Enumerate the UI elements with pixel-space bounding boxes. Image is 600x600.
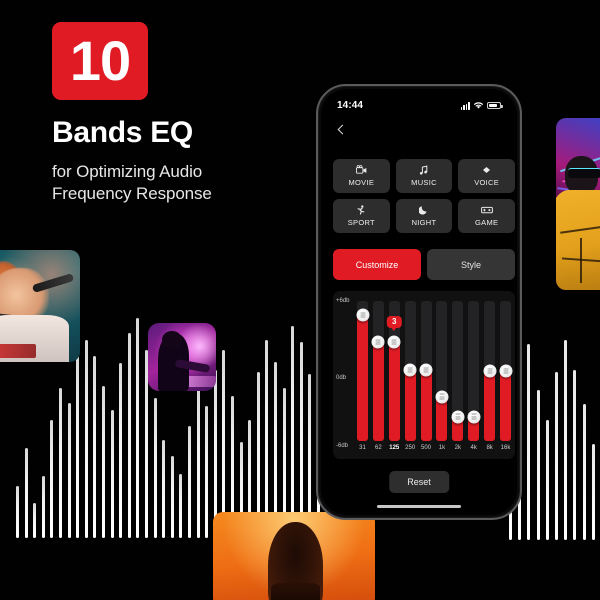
- poster-canvas: 10 Bands EQ for Optimizing Audio Frequen…: [0, 0, 600, 600]
- cellular-signal-icon: [461, 102, 470, 110]
- dj-photo: [148, 323, 216, 391]
- waveform-bar: [25, 448, 28, 538]
- equalizer-band-fill: [357, 315, 368, 441]
- waveform-bar: [33, 503, 36, 538]
- waveform-bar: [300, 342, 303, 538]
- equalizer-band-knob[interactable]: [420, 363, 433, 376]
- equalizer-band[interactable]: [484, 301, 495, 441]
- preset-voice[interactable]: VOICE: [458, 159, 515, 193]
- page-title: Bands EQ: [52, 117, 302, 149]
- waveform-bar: [102, 386, 105, 538]
- equalizer-band-fill: [500, 371, 511, 441]
- equalizer-band[interactable]: [500, 301, 511, 441]
- equalizer-frequency-label: 2k: [455, 445, 461, 451]
- gamepad-icon: [481, 205, 493, 216]
- status-time: 14:44: [337, 100, 363, 111]
- waveform-bar: [205, 406, 208, 538]
- preset-label: GAME: [475, 218, 498, 227]
- waveform-bar: [85, 340, 88, 538]
- preset-movie[interactable]: MOVIE: [333, 159, 390, 193]
- preset-night[interactable]: NIGHT: [396, 199, 453, 233]
- battery-icon: [487, 102, 501, 110]
- equalizer-band-knob[interactable]: [356, 309, 369, 322]
- equalizer-frequency-label: 250: [405, 445, 415, 451]
- equalizer-band[interactable]: [357, 301, 368, 441]
- equalizer-frequency-label: 500: [421, 445, 431, 451]
- equalizer-band-fill: [421, 370, 432, 441]
- reset-button[interactable]: Reset: [389, 471, 449, 493]
- waveform-bar: [222, 350, 225, 538]
- waveform-bar: [291, 326, 294, 538]
- equalizer-band-fill: [484, 371, 495, 441]
- waveform-bar: [188, 426, 191, 538]
- preset-grid: MOVIE MUSIC VOICE: [333, 159, 515, 233]
- preset-music[interactable]: MUSIC: [396, 159, 453, 193]
- waveform-bar: [50, 420, 53, 538]
- page-subtitle: for Optimizing Audio Frequency Response: [52, 161, 302, 207]
- equalizer-band[interactable]: [421, 301, 432, 441]
- portrait-photo: [213, 512, 375, 600]
- waveform-bar: [119, 363, 122, 538]
- y-axis-top-label: +6db: [336, 298, 350, 304]
- neon-portrait-photo: [556, 118, 600, 290]
- style-button[interactable]: Style: [427, 249, 515, 280]
- equalizer-frequency-label: 125: [389, 445, 399, 451]
- equalizer-frequency-label: 62: [375, 445, 382, 451]
- waveform-bar: [76, 350, 79, 538]
- equalizer-band-fill: [405, 370, 416, 441]
- preset-game[interactable]: GAME: [458, 199, 515, 233]
- waveform-bar: [59, 388, 62, 538]
- phone-notch: [389, 93, 449, 109]
- waveform-bar: [546, 420, 549, 540]
- waveform-bar: [179, 474, 182, 538]
- waveform-bar: [154, 398, 157, 538]
- singer-photo: [0, 250, 80, 362]
- waveform-bar: [136, 318, 139, 538]
- waveform-bar: [68, 403, 71, 538]
- preset-label: NIGHT: [412, 218, 437, 227]
- headline-block: 10 Bands EQ for Optimizing Audio Frequen…: [52, 22, 302, 206]
- equalizer-band[interactable]: [373, 301, 384, 441]
- waveform-bar: [171, 456, 174, 538]
- equalizer-band-fill: [389, 342, 400, 441]
- y-axis-bottom-label: -6db: [336, 443, 348, 449]
- preset-label: VOICE: [474, 178, 499, 187]
- voice-diamond-icon: [481, 165, 492, 176]
- equalizer-frequency-label: 4k: [471, 445, 477, 451]
- equalizer-band-knob[interactable]: [388, 335, 401, 348]
- equalizer-band-knob[interactable]: [372, 335, 385, 348]
- equalizer-frequency-label: 31: [359, 445, 366, 451]
- page-subtitle-line1: for Optimizing Audio: [52, 161, 302, 184]
- waveform-bar: [527, 344, 530, 540]
- phone-screen: 14:44: [321, 89, 517, 515]
- mode-row: Customize Style: [333, 249, 515, 280]
- y-axis-mid-label: 0db: [336, 375, 346, 381]
- equalizer-band-knob[interactable]: [404, 363, 417, 376]
- equalizer-frequency-label: 16k: [501, 445, 511, 451]
- bands-count-number: 10: [70, 33, 130, 89]
- movie-camera-icon: [356, 165, 367, 176]
- wifi-icon: [473, 101, 484, 110]
- preset-sport[interactable]: SPORT: [333, 199, 390, 233]
- equalizer-band-knob[interactable]: [451, 410, 464, 423]
- status-icons: [461, 101, 501, 110]
- equalizer-band-fill: [373, 342, 384, 441]
- waveform-bar: [16, 486, 19, 538]
- equalizer-band-knob[interactable]: [499, 365, 512, 378]
- equalizer-band[interactable]: 3: [389, 301, 400, 441]
- waveform-bar: [111, 410, 114, 538]
- equalizer-panel: +6db 0db -6db 3 31621252505001k2k4k8k16k: [333, 291, 515, 459]
- waveform-bar: [592, 444, 595, 540]
- waveform-bar: [583, 404, 586, 540]
- preset-label: MUSIC: [411, 178, 437, 187]
- waveform-bar: [555, 372, 558, 540]
- bands-count-badge: 10: [52, 22, 148, 100]
- equalizer-value-badge: 3: [387, 316, 401, 328]
- waveform-bar: [128, 333, 131, 538]
- music-note-icon: [419, 165, 429, 176]
- back-chevron-icon[interactable]: [335, 121, 353, 139]
- customize-button[interactable]: Customize: [333, 249, 421, 280]
- waveform-bar: [42, 476, 45, 538]
- equalizer-band-fill: [436, 397, 447, 441]
- equalizer-frequency-label: 1k: [439, 445, 445, 451]
- phone-mockup: 14:44: [316, 84, 522, 520]
- equalizer-frequency-label: 8k: [486, 445, 492, 451]
- preset-label: MOVIE: [348, 178, 374, 187]
- page-subtitle-line2: Frequency Response: [52, 183, 302, 206]
- waveform-bar: [573, 370, 576, 540]
- equalizer-y-axis: +6db 0db -6db: [336, 291, 356, 459]
- waveform-bar: [93, 356, 96, 538]
- equalizer-band[interactable]: [452, 301, 463, 441]
- equalizer-x-axis: 31621252505001k2k4k8k16k: [357, 445, 511, 455]
- crescent-moon-icon: [419, 205, 429, 216]
- equalizer-band-knob[interactable]: [483, 365, 496, 378]
- equalizer-band-knob[interactable]: [467, 410, 480, 423]
- waveform-bar: [197, 388, 200, 538]
- equalizer-band[interactable]: [405, 301, 416, 441]
- equalizer-band[interactable]: [436, 301, 447, 441]
- waveform-bar: [265, 340, 268, 538]
- waveform-bar: [564, 340, 567, 540]
- preset-label: SPORT: [348, 218, 375, 227]
- equalizer-bands: 3: [357, 301, 511, 441]
- equalizer-band-knob[interactable]: [435, 390, 448, 403]
- running-person-icon: [356, 205, 366, 216]
- waveform-bar: [162, 440, 165, 538]
- equalizer-band[interactable]: [468, 301, 479, 441]
- waveform-bar: [537, 390, 540, 540]
- home-indicator[interactable]: [377, 505, 461, 508]
